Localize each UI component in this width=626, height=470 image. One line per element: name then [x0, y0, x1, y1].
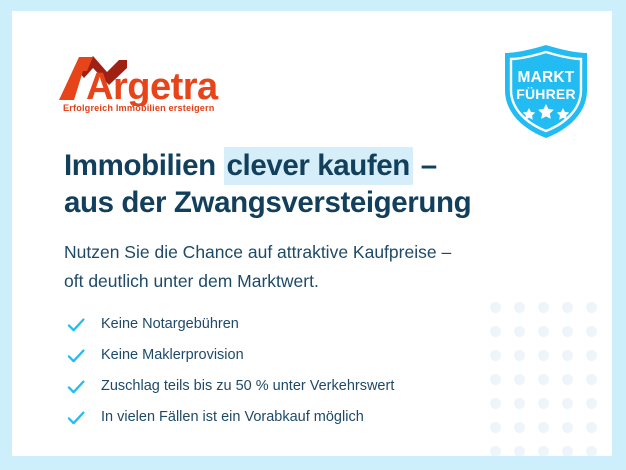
dot	[586, 350, 597, 361]
check-icon	[66, 408, 86, 428]
dot	[538, 302, 549, 313]
benefit-label: Zuschlag teils bis zu 50 % unter Verkehr…	[101, 379, 394, 394]
dot	[490, 398, 501, 409]
headline-line-1: Immobilien clever kaufen –	[64, 147, 437, 185]
dot	[514, 326, 525, 337]
benefit-label: Keine Maklerprovision	[101, 348, 244, 363]
dot	[562, 422, 573, 433]
dot	[514, 422, 525, 433]
dot	[562, 326, 573, 337]
subtitle: Nutzen Sie die Chance auf attraktive Kau…	[64, 238, 451, 296]
market-leader-badge: MARKT FÜHRER	[499, 44, 593, 140]
headline-line-2: aus der Zwangsversteigerung	[64, 186, 471, 219]
dot	[514, 302, 525, 313]
dot	[514, 446, 525, 456]
dot	[538, 326, 549, 337]
dot	[514, 350, 525, 361]
dot	[562, 446, 573, 456]
check-icon	[66, 377, 86, 397]
list-item: Keine Maklerprovision	[66, 340, 394, 371]
dot	[538, 422, 549, 433]
headline-highlight-text: clever kaufen	[224, 147, 413, 185]
dot	[490, 326, 501, 337]
argetra-logo[interactable]: Argetra Erfolgreich Immobilien ersteiger…	[57, 54, 267, 116]
list-item: In vielen Fällen ist ein Vorabkauf mögli…	[66, 402, 394, 433]
dot	[514, 374, 525, 385]
benefit-label: In vielen Fällen ist ein Vorabkauf mögli…	[101, 410, 364, 425]
dot	[538, 350, 549, 361]
headline-post-text: –	[413, 149, 437, 182]
content-card: Argetra Erfolgreich Immobilien ersteiger…	[12, 11, 612, 456]
dot	[586, 422, 597, 433]
benefit-label: Keine Notargebühren	[101, 317, 239, 332]
dot	[562, 350, 573, 361]
dot	[586, 302, 597, 313]
dot	[562, 398, 573, 409]
subtitle-line-2: oft deutlich unter dem Marktwert.	[64, 271, 319, 291]
dot	[490, 446, 501, 456]
dot	[514, 398, 525, 409]
logo-tagline: Erfolgreich Immobilien ersteigern	[63, 103, 214, 113]
dot	[490, 422, 501, 433]
dot	[538, 446, 549, 456]
dot	[538, 398, 549, 409]
badge-line2-text: FÜHRER	[516, 86, 576, 102]
check-icon	[66, 315, 86, 335]
subtitle-line-1: Nutzen Sie die Chance auf attraktive Kau…	[64, 242, 451, 262]
dot	[490, 302, 501, 313]
decorative-dot-grid	[484, 296, 604, 456]
benefits-list: Keine Notargebühren Keine Maklerprovisio…	[66, 309, 394, 433]
dot	[586, 326, 597, 337]
dot	[562, 302, 573, 313]
dot	[586, 446, 597, 456]
dot	[490, 350, 501, 361]
logo-mark-icon: Argetra	[57, 54, 267, 106]
headline-pre-text: Immobilien	[64, 149, 224, 182]
shield-badge-icon: MARKT FÜHRER	[499, 44, 593, 140]
check-icon	[66, 346, 86, 366]
dot	[586, 398, 597, 409]
list-item: Zuschlag teils bis zu 50 % unter Verkehr…	[66, 371, 394, 402]
dot	[538, 374, 549, 385]
badge-line1-text: MARKT	[518, 69, 575, 86]
page-title: Immobilien clever kaufen – aus der Zwang…	[64, 147, 471, 221]
promo-banner: Argetra Erfolgreich Immobilien ersteiger…	[0, 0, 626, 470]
dot	[490, 374, 501, 385]
svg-text:Argetra: Argetra	[86, 66, 219, 106]
dot	[562, 374, 573, 385]
list-item: Keine Notargebühren	[66, 309, 394, 340]
dot	[586, 374, 597, 385]
